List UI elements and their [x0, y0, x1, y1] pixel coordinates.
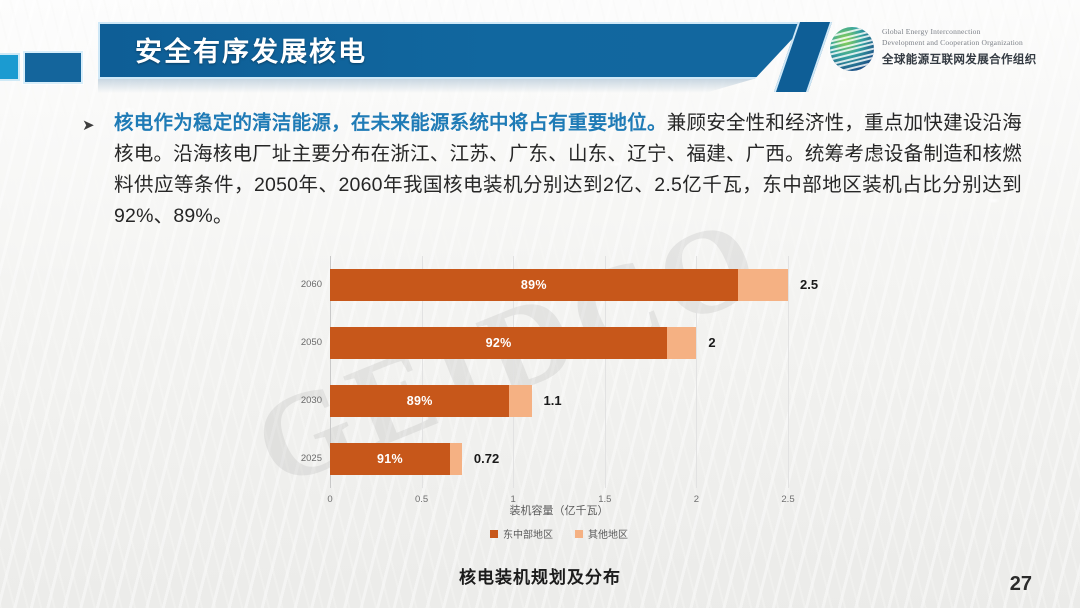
chart-category-label: 2025 [256, 443, 322, 475]
chart-plot-area: 89%20602.592%2050289%20301.191%20250.720… [330, 256, 788, 488]
chart-gridline [788, 256, 789, 488]
chart-bar-share-label: 92% [486, 336, 512, 350]
geidco-logo: Global Energy Interconnection Developmen… [830, 24, 1070, 78]
chart-bar-share-label: 89% [521, 278, 547, 292]
slide: 安全有序发展核电 Global Energy Interconnection D… [0, 0, 1080, 608]
chart-legend-item: 东中部地区 [490, 526, 553, 541]
bullet-paragraph: ➤ 核电作为稳定的清洁能源，在未来能源系统中将占有重要地位。兼顾安全性和经济性，… [82, 108, 1022, 232]
chart-category-label: 2060 [256, 269, 322, 301]
chart-bar-row: 89% [330, 269, 788, 301]
logo-text: Global Energy Interconnection Developmen… [882, 26, 1067, 67]
chart-bar-segment-other [450, 443, 462, 475]
decor-square-blue [23, 51, 83, 84]
page-number: 27 [1010, 573, 1032, 596]
chart-bar-row: 92% [330, 327, 696, 359]
chart-bar-row: 91% [330, 443, 462, 475]
chart-bar-share-label: 91% [377, 452, 403, 466]
chart-bar-segment-other [509, 385, 531, 417]
globe-icon [830, 27, 874, 71]
chart-bar-row: 89% [330, 385, 532, 417]
chart-legend-label: 东中部地区 [503, 526, 553, 541]
chart-total-label: 0.72 [474, 443, 499, 475]
chart-legend-swatch [575, 530, 583, 538]
bullet-text: 核电作为稳定的清洁能源，在未来能源系统中将占有重要地位。兼顾安全性和经济性，重点… [114, 108, 1022, 232]
page-title: 安全有序发展核电 [135, 30, 367, 69]
bullet-arrow-icon: ➤ [82, 116, 95, 134]
chart-legend-item: 其他地区 [575, 526, 628, 541]
chart-bar-segment-main: 91% [330, 443, 450, 475]
chart-legend-label: 其他地区 [588, 526, 628, 541]
chart-total-label: 2 [708, 327, 715, 359]
decor-square-cyan [0, 53, 20, 81]
bullet-highlight: 核电作为稳定的清洁能源，在未来能源系统中将占有重要地位。 [114, 112, 667, 134]
chart-bar-segment-main: 89% [330, 269, 738, 301]
chart-total-label: 1.1 [544, 385, 562, 417]
logo-en-line1: Global Energy Interconnection [882, 26, 1067, 37]
chart-bar-segment-main: 89% [330, 385, 509, 417]
chart-category-label: 2050 [256, 327, 322, 359]
logo-en-line2: Development and Cooperation Organization [882, 37, 1067, 48]
chart-caption: 核电装机规划及分布 [0, 563, 1080, 588]
chart-bar-segment-other [667, 327, 696, 359]
chart-bar-share-label: 89% [407, 394, 433, 408]
chart-bar-segment-other [738, 269, 788, 301]
chart-legend-swatch [490, 530, 498, 538]
chart-legend: 东中部地区其他地区 [330, 526, 788, 541]
slide-header: 安全有序发展核电 Global Energy Interconnection D… [0, 0, 1080, 100]
title-bar-shadow [98, 79, 788, 93]
chart-xaxis-label: 装机容量（亿千瓦） [330, 502, 788, 518]
chart-nuclear-capacity: 89%20602.592%2050289%20301.191%20250.720… [255, 248, 845, 558]
chart-total-label: 2.5 [800, 269, 818, 301]
chart-category-label: 2030 [256, 385, 322, 417]
chart-bar-segment-main: 92% [330, 327, 667, 359]
logo-cn-line: 全球能源互联网发展合作组织 [882, 51, 1067, 67]
